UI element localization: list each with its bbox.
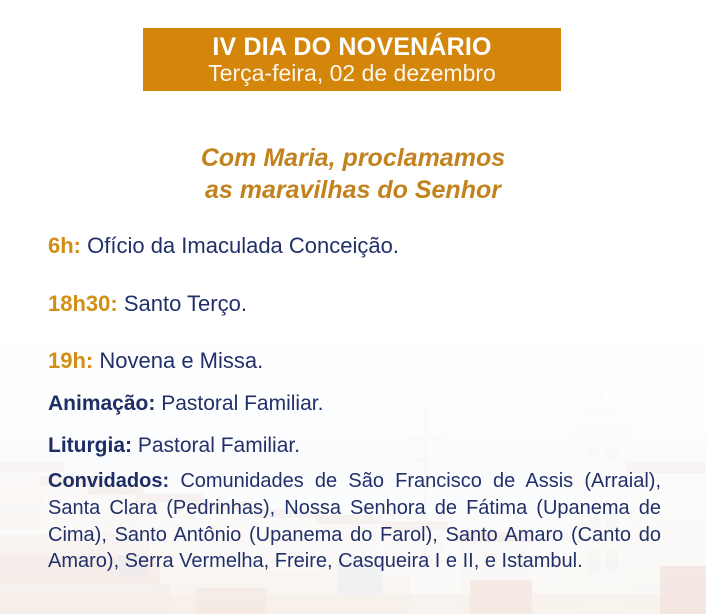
schedule-time-1: 6h:	[48, 233, 81, 258]
motto-line-1: Com Maria, proclamamos	[0, 142, 706, 174]
banner-date: Terça-feira, 02 de dezembro	[208, 61, 496, 87]
guests-paragraph: Convidados: Comunidades de São Francisco…	[48, 468, 661, 575]
header-banner: IV DIA DO NOVENÁRIO Terça-feira, 02 de d…	[143, 28, 561, 91]
schedule-list: 6h: Ofício da Imaculada Conceição. 18h30…	[48, 232, 660, 459]
spacer	[48, 260, 660, 290]
schedule-item-3: 19h: Novena e Missa.	[48, 347, 660, 375]
spacer	[48, 375, 660, 391]
spacer	[48, 417, 660, 433]
guests-label: Convidados:	[48, 470, 169, 492]
schedule-description-2: Santo Terço.	[124, 291, 247, 316]
schedule-description-3: Novena e Missa.	[99, 348, 263, 373]
schedule-item-2: 18h30: Santo Terço.	[48, 290, 660, 318]
role-value-liturgia: Pastoral Familiar.	[138, 434, 300, 457]
role-item-liturgia: Liturgia: Pastoral Familiar.	[48, 433, 660, 459]
role-label-animacao: Animação:	[48, 392, 155, 415]
schedule-item-1: 6h: Ofício da Imaculada Conceição.	[48, 232, 660, 260]
role-label-liturgia: Liturgia:	[48, 434, 132, 457]
role-item-animacao: Animação: Pastoral Familiar.	[48, 391, 660, 417]
motto: Com Maria, proclamamos as maravilhas do …	[0, 142, 706, 206]
spacer	[48, 317, 660, 347]
schedule-time-2: 18h30:	[48, 291, 118, 316]
novena-poster: IV DIA DO NOVENÁRIO Terça-feira, 02 de d…	[0, 0, 706, 614]
schedule-time-3: 19h:	[48, 348, 93, 373]
schedule-description-1: Ofício da Imaculada Conceição.	[87, 233, 399, 258]
banner-title: IV DIA DO NOVENÁRIO	[212, 34, 491, 60]
role-value-animacao: Pastoral Familiar.	[161, 392, 323, 415]
motto-line-2: as maravilhas do Senhor	[0, 174, 706, 206]
